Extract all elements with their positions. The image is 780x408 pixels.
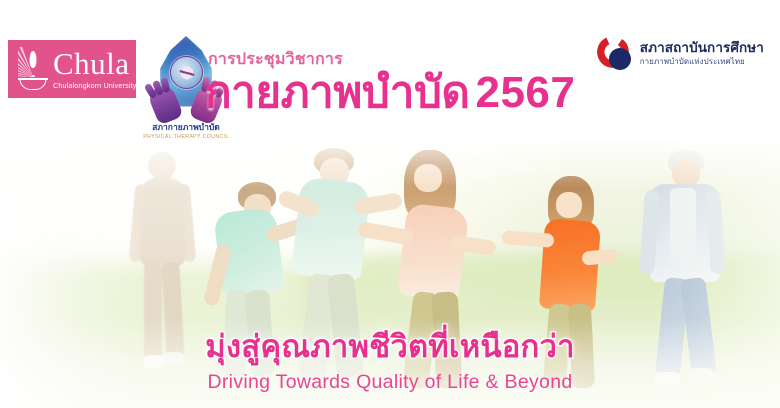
ptc-caption-thai: สภากายภาพบำบัด — [130, 123, 242, 132]
banner-header: Chula Chulalongkorn University สภากายภาพ… — [0, 0, 780, 142]
phra-kiao-crown-icon — [16, 46, 50, 92]
tagline-english: Driving Towards Quality of Life & Beyond — [0, 371, 780, 394]
chula-name: Chula — [53, 48, 137, 79]
event-kicker: การประชุมวิชาการ — [208, 52, 575, 68]
tagline-block: มุ่งสู่คุณภาพชีวิตที่เหนือกว่า Driving T… — [0, 328, 780, 394]
event-title: กายภาพบำบัด2567 — [205, 70, 575, 116]
council-institutions-subtitle: กายภาพบำบัดแห่งประเทศไทย — [640, 57, 764, 66]
tagline-thai: มุ่งสู่คุณภาพชีวิตที่เหนือกว่า — [0, 328, 780, 367]
event-year: 2567 — [475, 68, 575, 117]
conference-banner: Chula Chulalongkorn University สภากายภาพ… — [0, 0, 780, 408]
council-institutions-title: สภาสถาบันการศึกษา — [640, 40, 764, 56]
council-institutions-text: สภาสถาบันการศึกษา กายภาพบำบัดแห่งประเทศไ… — [640, 40, 764, 66]
chula-subtitle: Chulalongkorn University — [53, 82, 137, 89]
ptc-caption-english: PHYSICAL THERAPY COUNCIL — [130, 134, 242, 140]
council-institutions-logo[interactable]: สภาสถาบันการศึกษา กายภาพบำบัดแห่งประเทศไ… — [597, 36, 764, 70]
event-title-thai: กายภาพบำบัด — [205, 68, 469, 117]
red-crescent-navy-circle-icon — [597, 36, 631, 70]
event-title-block: การประชุมวิชาการ กายภาพบำบัด2567 — [205, 52, 575, 116]
chula-logo[interactable]: Chula Chulalongkorn University — [8, 40, 136, 98]
chula-logo-text: Chula Chulalongkorn University — [53, 48, 137, 89]
